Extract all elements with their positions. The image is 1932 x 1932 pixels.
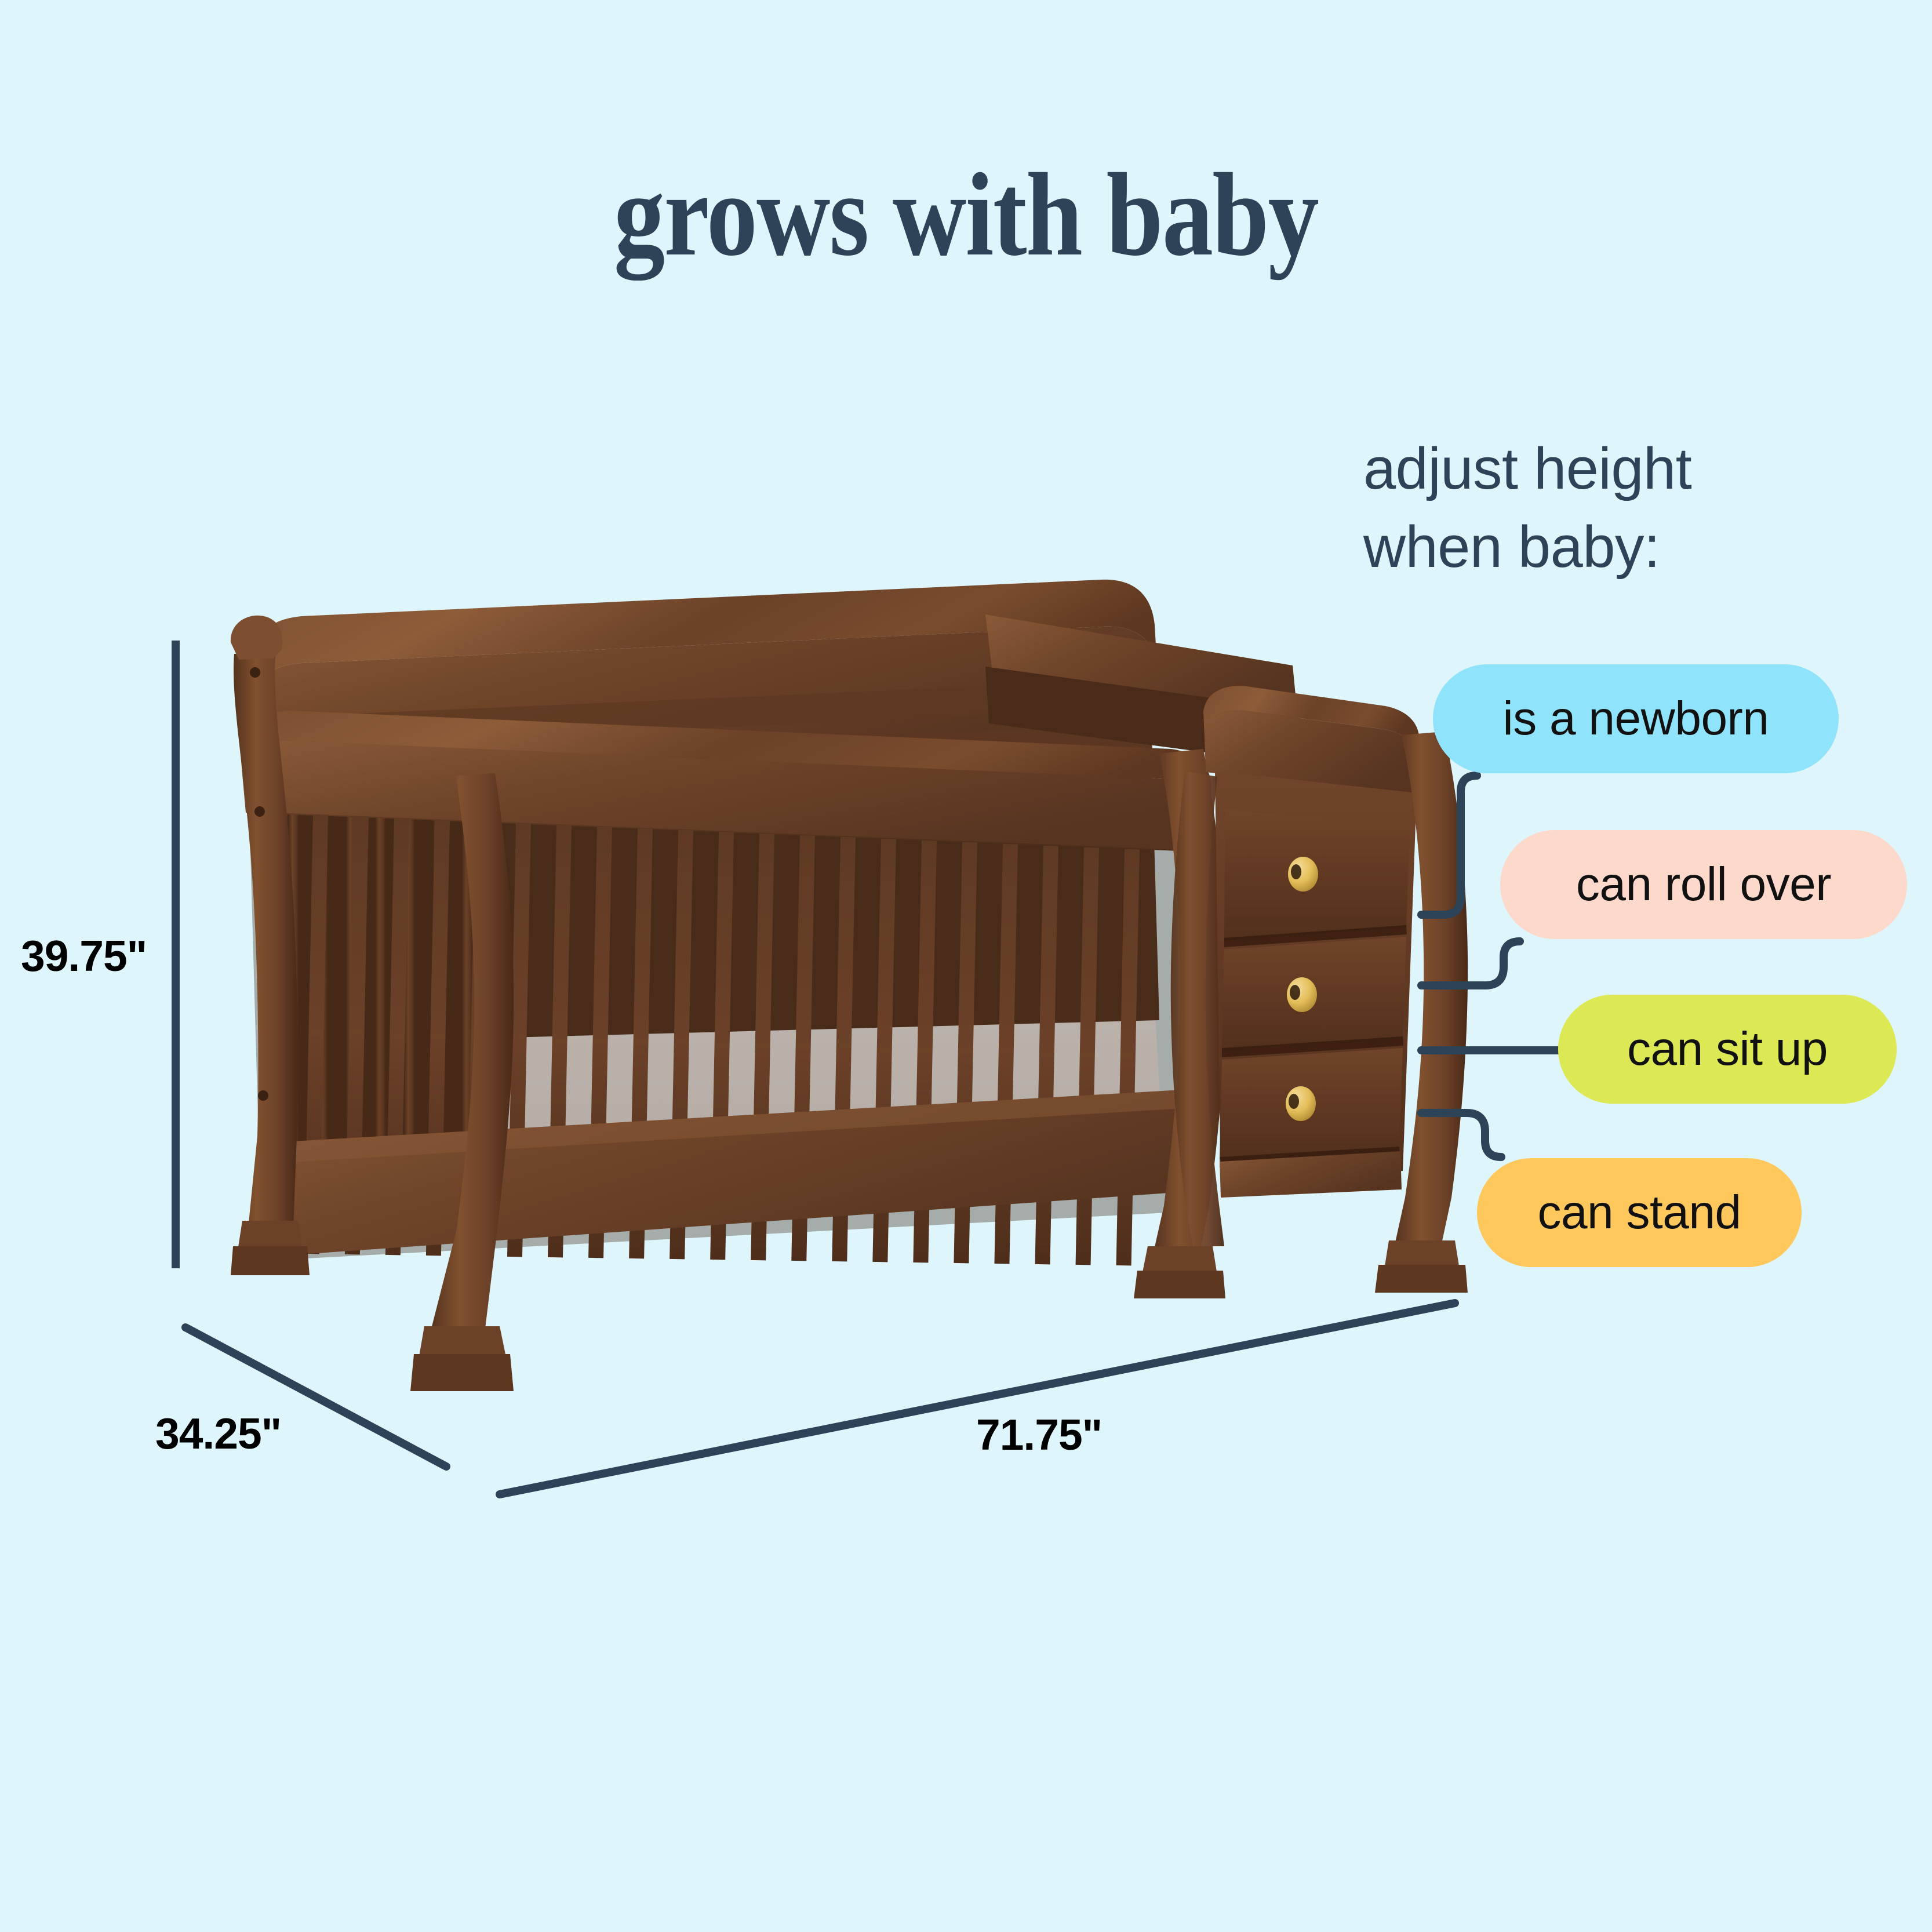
- callout-prompt: adjust height when baby:: [1363, 430, 1804, 587]
- crib-head-panel: [262, 734, 484, 1183]
- crib-headboard: [249, 580, 1159, 761]
- depth-dimension-label: 34.25": [155, 1409, 281, 1458]
- connector-can-stand: [1421, 1113, 1501, 1157]
- crib-front-rail: [240, 711, 1211, 852]
- callout-pill-can-roll-over[interactable]: can roll over: [1500, 830, 1907, 939]
- connector-is-a-newborn: [1421, 776, 1477, 915]
- crib-mattress: [301, 985, 1165, 1223]
- product-illustration: [0, 0, 1932, 1932]
- callout-pill-label: can sit up: [1627, 1022, 1828, 1076]
- changer-dresser: [1171, 686, 1468, 1293]
- callout-prompt-line-2: when baby:: [1363, 508, 1804, 587]
- height-dimension-label: 39.75": [21, 931, 147, 981]
- callout-pill-label: can roll over: [1576, 857, 1831, 912]
- crib-back-panel: [272, 719, 1159, 1043]
- infographic-canvas: grows with baby adjust height when baby:: [0, 0, 1932, 1932]
- callout-pill-label: is a newborn: [1503, 692, 1769, 746]
- crib-left-post: [410, 773, 514, 1391]
- drawer-knob-icon: [1286, 1086, 1316, 1121]
- callout-prompt-line-1: adjust height: [1363, 430, 1804, 508]
- connector-can-roll-over: [1421, 941, 1520, 985]
- callout-connectors: [0, 0, 1932, 1932]
- page-title: grows with baby: [135, 155, 1796, 274]
- callout-pill-label: can stand: [1537, 1185, 1741, 1240]
- changing-deck: [985, 614, 1301, 765]
- width-dimension-label: 71.75": [976, 1410, 1102, 1460]
- dimension-lines: [0, 0, 1932, 1932]
- crib-right-post: [1134, 749, 1225, 1298]
- callout-pill-is-a-newborn[interactable]: is a newborn: [1433, 664, 1839, 773]
- drawer-knob-icon: [1287, 977, 1317, 1012]
- crib-head-post: [231, 616, 310, 1275]
- callout-pill-can-sit-up[interactable]: can sit up: [1558, 995, 1897, 1104]
- crib-front-slats: [249, 812, 1207, 1265]
- drawer-knob-icon: [1288, 857, 1318, 892]
- callout-pill-can-stand[interactable]: can stand: [1477, 1158, 1802, 1267]
- width-dimension-line: [500, 1303, 1455, 1494]
